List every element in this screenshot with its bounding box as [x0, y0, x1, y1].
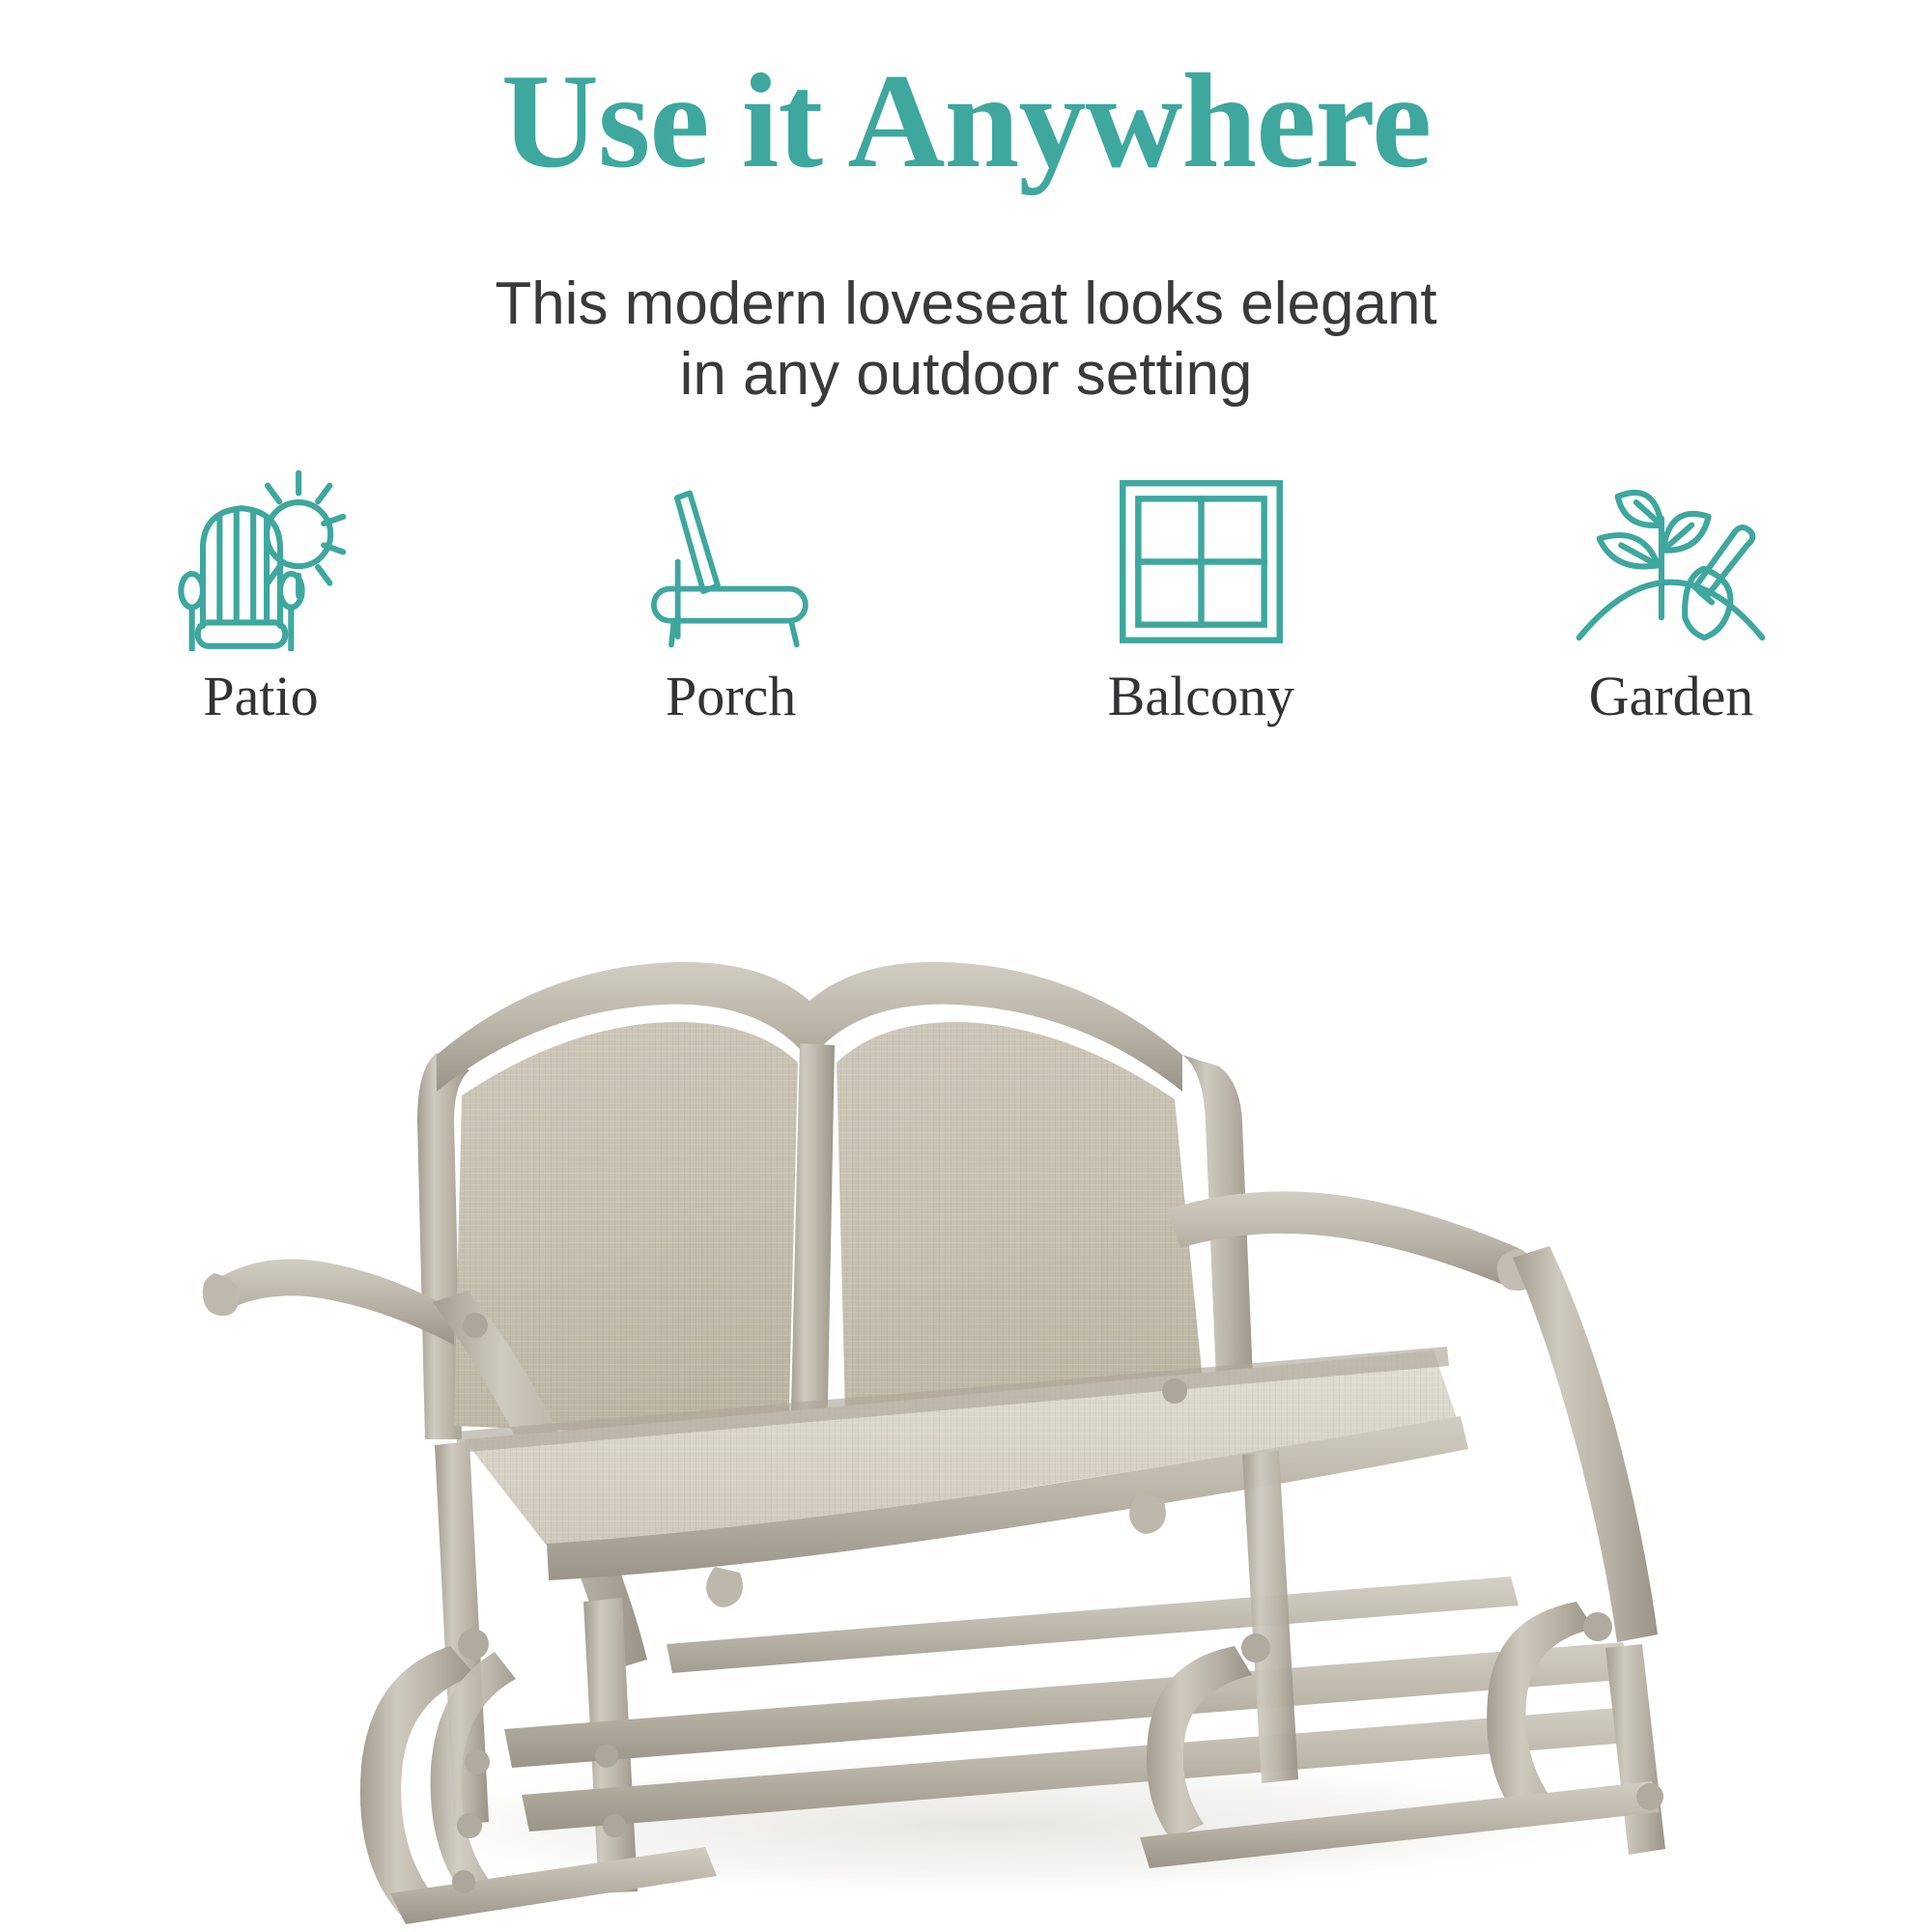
subtitle-line-2: in any outdoor setting: [0, 339, 1932, 410]
page-subtitle: This modern loveseat looks elegant in an…: [0, 269, 1932, 410]
pivot-bolt-11: [1162, 1378, 1187, 1404]
feature-label-garden: Garden: [1589, 668, 1754, 724]
pivot-bolt-10: [463, 1313, 488, 1338]
base-stretcher-top: [667, 1577, 1519, 1673]
page-title: Use it Anywhere: [0, 50, 1932, 192]
product-image-patio-glider-loveseat: [0, 773, 1932, 1932]
glider-swing-arm-right: [1487, 1602, 1594, 1816]
seat-clip-right: [1129, 1493, 1166, 1534]
promo-page: Use it Anywhere This modern loveseat loo…: [0, 0, 1932, 1932]
feature-label-balcony: Balcony: [1108, 668, 1294, 724]
pivot-bolt-7: [595, 1745, 618, 1768]
feature-label-porch: Porch: [666, 668, 796, 724]
feature-item-balcony: Balcony: [1056, 429, 1346, 724]
feature-item-patio: Patio: [116, 429, 406, 724]
adirondack-chair-sun-icon: [150, 429, 372, 651]
pivot-bolt-6: [1636, 1783, 1663, 1810]
subtitle-line-1: This modern loveseat looks elegant: [495, 270, 1436, 337]
pivot-bolt-8: [603, 1814, 626, 1837]
feature-icon-row: Patio Porch: [116, 406, 1816, 724]
plant-trowel-icon: [1560, 429, 1782, 651]
pivot-bolt-1: [458, 1629, 489, 1660]
feature-item-porch: Porch: [586, 429, 876, 724]
pivot-bolt-4: [1241, 1634, 1270, 1662]
feature-item-garden: Garden: [1526, 429, 1816, 724]
armrest-left: [220, 1259, 454, 1345]
pivot-bolt-9: [452, 1870, 475, 1893]
frame-back-center-post: [790, 1043, 835, 1451]
window-pane-icon: [1090, 429, 1312, 651]
pivot-bolt-3: [457, 1813, 482, 1838]
seat-clip-left: [706, 1567, 743, 1607]
pivot-bolt-5: [1583, 1612, 1612, 1641]
lounge-chair-icon: [620, 429, 842, 651]
arm-support-right: [1513, 1246, 1658, 1642]
feature-label-patio: Patio: [203, 668, 318, 724]
pivot-bolt-2: [465, 1749, 490, 1775]
